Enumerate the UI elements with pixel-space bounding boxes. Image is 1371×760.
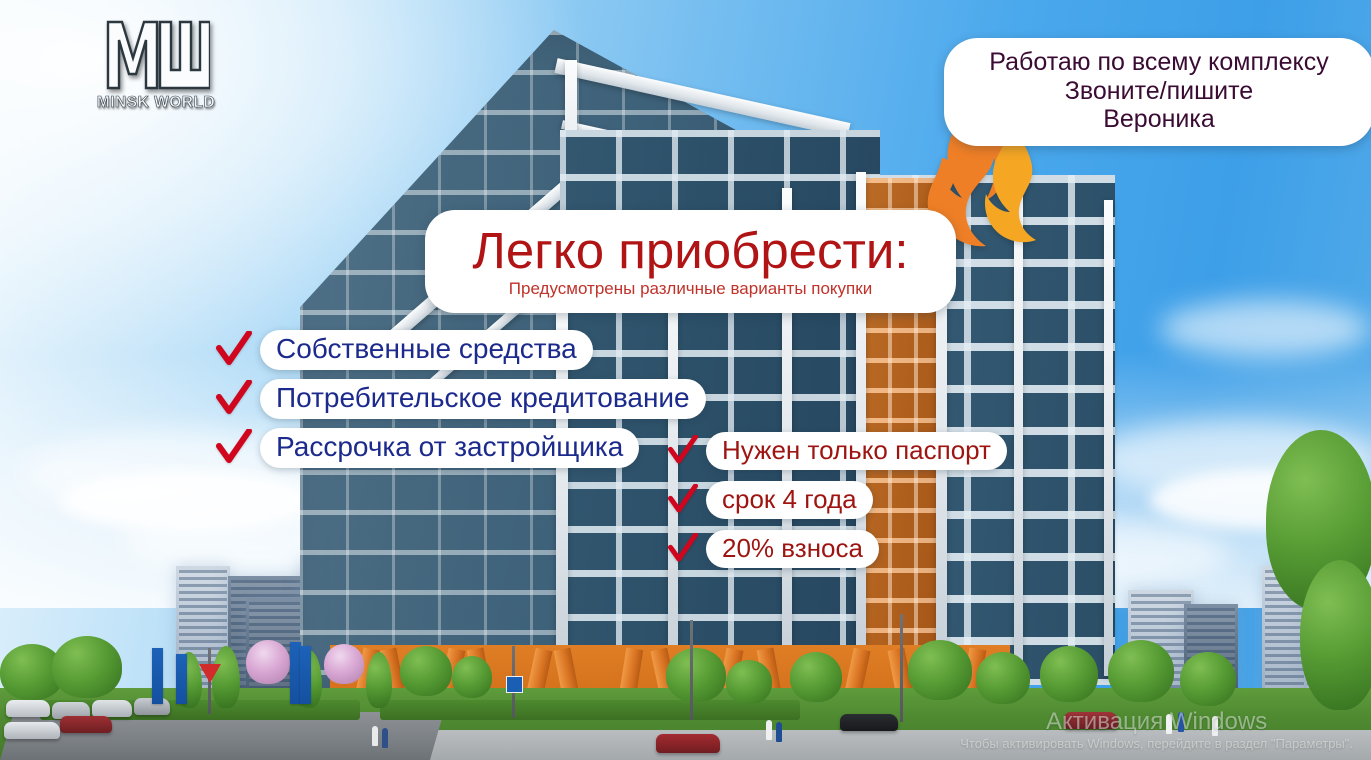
parked-car	[92, 700, 132, 717]
street-banner	[152, 648, 163, 704]
tree	[666, 648, 726, 702]
parked-car	[4, 722, 60, 739]
facade-pilaster	[1104, 200, 1113, 676]
tree	[1108, 640, 1174, 702]
tree	[976, 652, 1030, 704]
street-banner	[176, 654, 187, 704]
driving-car	[656, 734, 720, 753]
pedestrian	[1178, 712, 1184, 732]
pedestrian	[1166, 714, 1172, 734]
payment-option-row[interactable]: Рассрочка от застройщика	[216, 428, 639, 468]
payment-option-label: Собственные средства	[260, 330, 593, 370]
installment-term-row[interactable]: срок 4 года	[668, 481, 873, 519]
payment-option-label: Потребительское кредитование	[260, 379, 706, 419]
blossom-tree	[246, 640, 290, 684]
parked-car	[6, 700, 50, 717]
installment-term-label: 20% взноса	[706, 530, 879, 568]
payment-option-row[interactable]: Собственные средства	[216, 330, 593, 370]
installment-term-label: Нужен только паспорт	[706, 432, 1007, 470]
pedestrian	[382, 728, 388, 748]
promo-image: MINSK WORLD Работаю по всему комплексу З…	[0, 0, 1371, 760]
page-title: Легко приобрести:	[447, 224, 934, 277]
tree	[1180, 652, 1236, 706]
installment-term-label: срок 4 года	[706, 481, 873, 519]
parked-car	[840, 714, 898, 731]
sidewalk	[300, 730, 1371, 760]
contact-callout[interactable]: Работаю по всему комплексу Звоните/пишит…	[944, 38, 1371, 146]
tree	[400, 646, 452, 696]
checkmark-icon	[216, 429, 252, 467]
parked-car	[60, 716, 112, 733]
facade-pilaster	[1014, 186, 1023, 676]
blossom-tree	[324, 644, 364, 684]
checkmark-icon	[668, 484, 698, 516]
pedestrian	[766, 720, 772, 740]
lamp-pole	[900, 614, 903, 722]
payment-option-label: Рассрочка от застройщика	[260, 428, 639, 468]
tree	[1040, 646, 1098, 702]
checkmark-icon	[216, 380, 252, 418]
cloud-soft	[1160, 300, 1370, 358]
tree	[52, 636, 122, 698]
pedestrian	[776, 722, 782, 742]
pedestrian-crossing-sign	[506, 676, 523, 693]
checkmark-icon	[668, 533, 698, 565]
street-banner	[300, 646, 311, 704]
contact-line-3: Вероника	[958, 105, 1360, 134]
mw-monogram-icon	[102, 18, 210, 92]
pedestrian	[1212, 716, 1218, 736]
page-subtitle: Предусмотрены различные варианты покупки	[447, 279, 934, 299]
checkmark-icon	[668, 435, 698, 467]
installment-term-row[interactable]: Нужен только паспорт	[668, 432, 1007, 470]
tree	[726, 660, 772, 704]
installment-term-row[interactable]: 20% взноса	[668, 530, 879, 568]
pedestrian	[372, 726, 378, 746]
tree	[452, 656, 492, 698]
parked-car	[1064, 712, 1118, 729]
contact-line-1: Работаю по всему комплексу	[958, 48, 1360, 77]
contact-line-2: Звоните/пишите	[958, 77, 1360, 106]
brand-logo[interactable]: MINSK WORLD	[92, 18, 220, 118]
tree	[790, 652, 842, 702]
headline-card: Легко приобрести: Предусмотрены различны…	[425, 210, 956, 313]
lamp-pole	[690, 620, 693, 720]
logo-wordmark: MINSK WORLD	[92, 94, 220, 112]
tree	[908, 640, 972, 700]
hedge	[380, 700, 800, 720]
payment-option-row[interactable]: Потребительское кредитование	[216, 379, 706, 419]
yield-sign	[199, 664, 221, 683]
checkmark-icon	[216, 331, 252, 369]
foreground-tree	[1300, 560, 1371, 710]
